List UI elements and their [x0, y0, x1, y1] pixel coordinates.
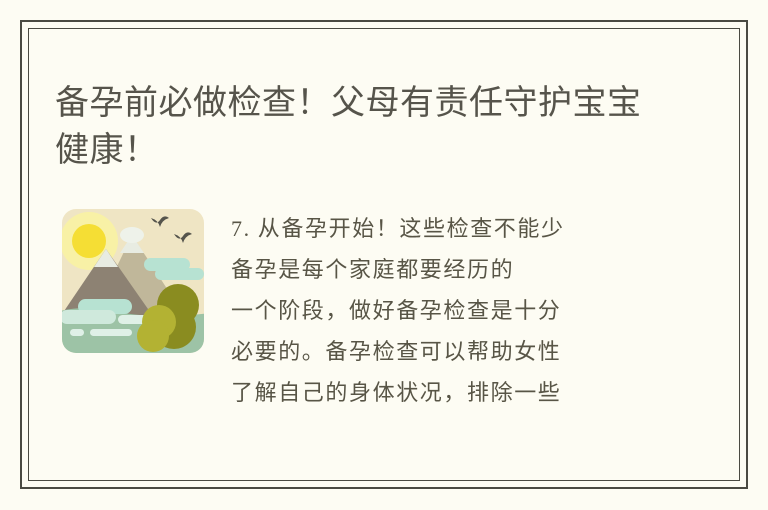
mountain-landscape-illustration	[58, 205, 208, 357]
page-title: 备孕前必做检查！父母有责任守护宝宝健康！	[55, 80, 665, 174]
cloud-top-icon	[120, 227, 144, 243]
article-card-page: 备孕前必做检查！父母有责任守护宝宝健康！	[0, 0, 768, 510]
sun-icon	[72, 224, 106, 258]
tree-light-icon	[137, 320, 169, 352]
article-thumbnail[interactable]	[58, 205, 208, 357]
article-body-text: 7. 从备孕开始！这些检查不能少 备孕是每个家庭都要经历的 一个阶段，做好备孕检…	[231, 208, 661, 413]
